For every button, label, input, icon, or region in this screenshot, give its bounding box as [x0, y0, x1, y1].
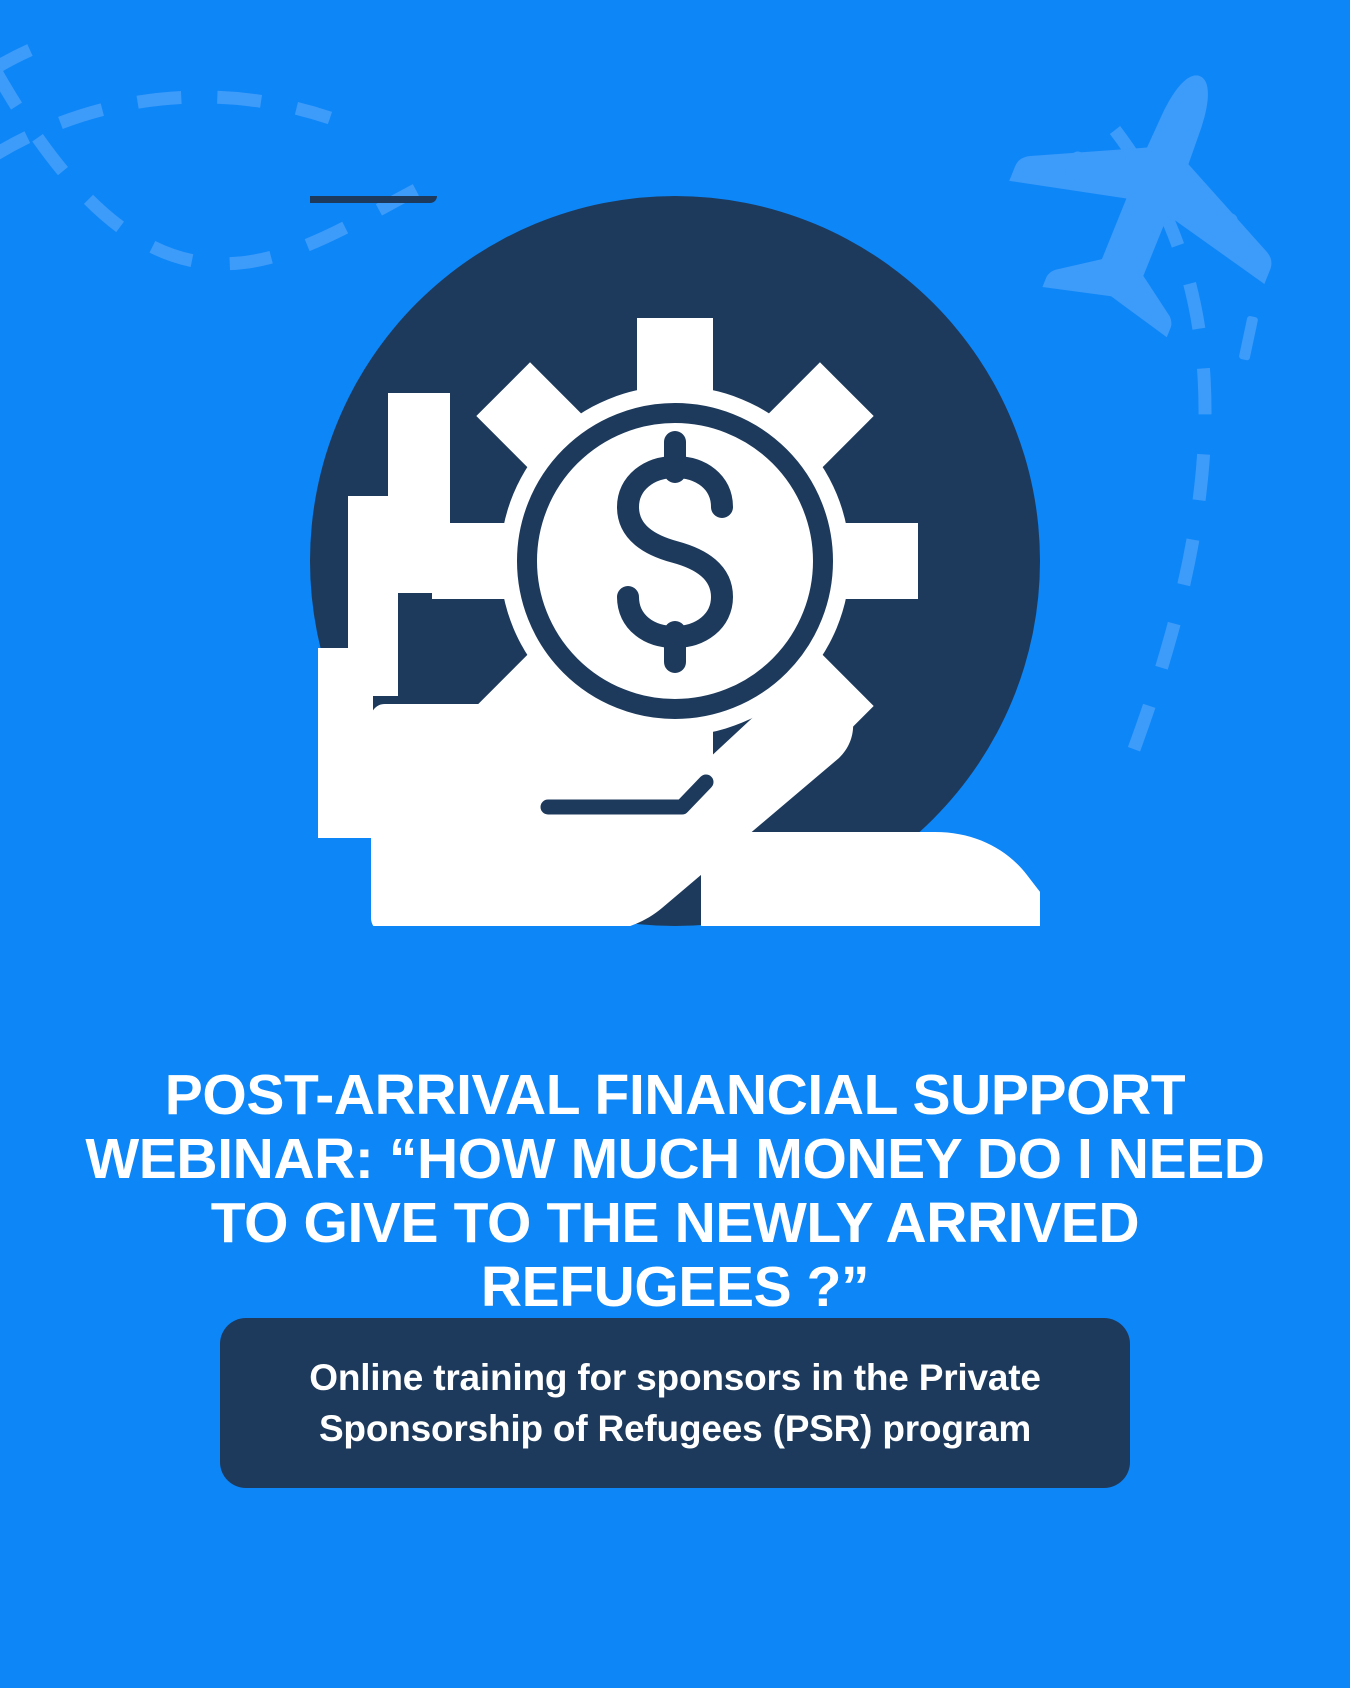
subtitle-banner: Online training for sponsors in the Priv…	[220, 1318, 1130, 1488]
open-hand-overlay-icon	[310, 196, 1040, 926]
dashed-flight-path-arc-left-outer	[0, 97, 330, 720]
emblem	[310, 196, 1040, 926]
dashed-flight-path-arc-right	[1115, 130, 1205, 760]
airplane-engine-icon	[1063, 149, 1090, 183]
contrail-dash	[1239, 315, 1259, 360]
airplane-engine-icon	[1213, 210, 1240, 244]
airplane-engine-icon	[1101, 148, 1128, 182]
poster-canvas: POST-ARRIVAL FINANCIAL SUPPORT WEBINAR: …	[0, 0, 1350, 1688]
subtitle-text: Online training for sponsors in the Priv…	[278, 1352, 1072, 1454]
airplane-engine-icon	[1187, 183, 1214, 217]
dashed-flight-path-arc-left-inner	[0, 50, 30, 610]
page-title: POST-ARRIVAL FINANCIAL SUPPORT WEBINAR: …	[60, 1064, 1290, 1319]
hand-sleeve	[318, 648, 373, 838]
